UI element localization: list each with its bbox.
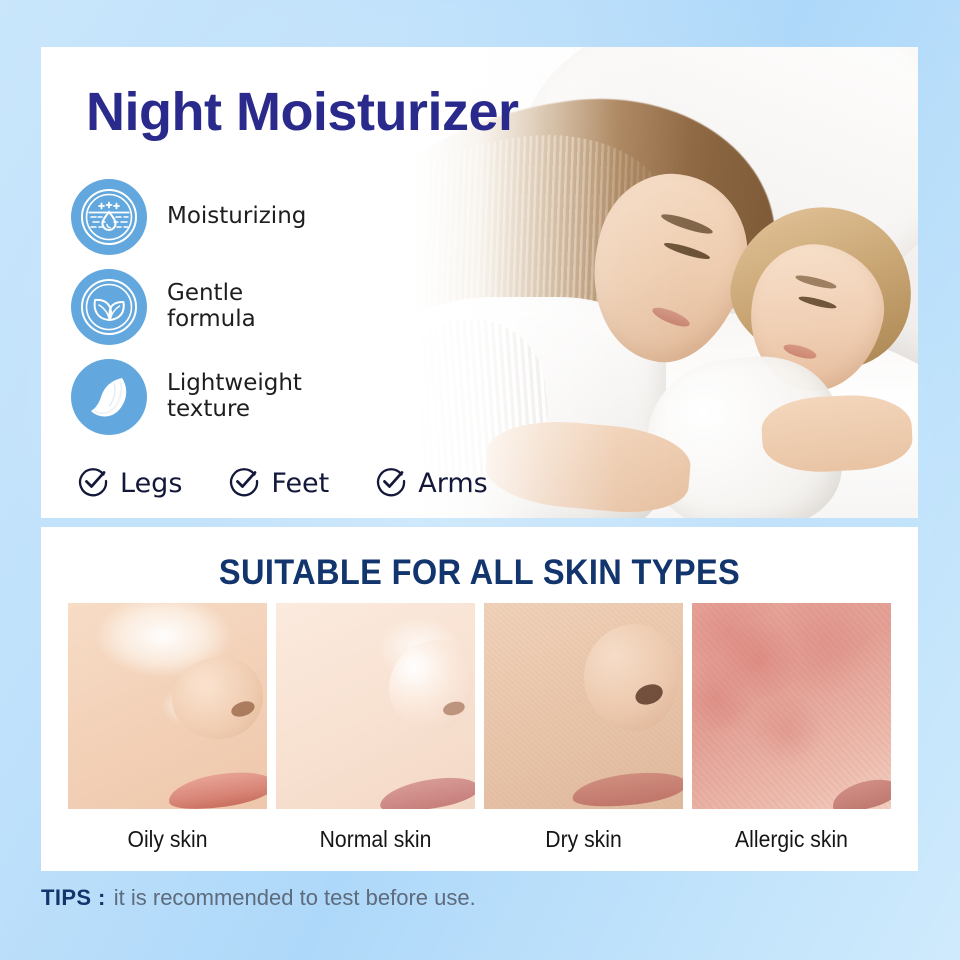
body-area-list: Legs Feet Arms [77, 465, 534, 502]
lips-shape [166, 766, 267, 809]
nose-shape [584, 624, 680, 731]
skin-hydration-icon [71, 179, 147, 255]
feature-item-moisturizing: Moisturizing [71, 172, 371, 262]
feature-list: Moisturizing Gentleformula [71, 172, 371, 442]
check-circle-icon [228, 465, 260, 502]
skin-type-caption-normal: Normal skin [284, 826, 467, 853]
check-item-arms: Arms [375, 465, 487, 502]
skin-type-caption-dry: Dry skin [492, 826, 675, 853]
oily-skin-photo [68, 603, 267, 809]
skin-type-caption-oily: Oily skin [76, 826, 259, 853]
feature-label-moisturizing: Moisturizing [167, 204, 306, 230]
feature-label-lightweight-texture: Lightweighttexture [167, 371, 302, 423]
feature-item-gentle-formula: Gentleformula [71, 262, 371, 352]
dry-skin-photo [484, 603, 683, 809]
skin-type-caption-allergic: Allergic skin [700, 826, 883, 853]
check-item-legs: Legs [77, 465, 182, 502]
lips-shape [829, 773, 891, 809]
skin-type-item-normal: Normal skin [276, 603, 475, 853]
skin-types-card: SUITABLE FOR ALL SKIN TYPES Oily skin No… [41, 527, 918, 871]
nose-shape [389, 640, 473, 731]
check-circle-icon [77, 465, 109, 502]
page-title: Night Moisturizer [86, 81, 519, 143]
check-circle-icon [375, 465, 407, 502]
lips-shape [570, 767, 683, 809]
skin-types-heading: SUITABLE FOR ALL SKIN TYPES [72, 553, 888, 593]
allergic-skin-photo [692, 603, 891, 809]
cream-swatch-icon [71, 359, 147, 435]
hero-card: Night Moisturizer [41, 47, 918, 518]
product-poster: Night Moisturizer [0, 0, 960, 960]
tips-note: TIPS : it is recommended to test before … [41, 885, 476, 911]
leaf-icon [71, 269, 147, 345]
skin-types-grid: Oily skin Normal skin Dry skin [68, 603, 891, 853]
skin-type-item-dry: Dry skin [484, 603, 683, 853]
tips-label: TIPS : [41, 885, 106, 911]
normal-skin-photo [276, 603, 475, 809]
nose-shape [172, 657, 264, 739]
check-label-legs: Legs [120, 468, 182, 499]
feature-label-gentle-formula: Gentleformula [167, 281, 256, 333]
tips-text: it is recommended to test before use. [114, 885, 476, 911]
skin-type-item-allergic: Allergic skin [692, 603, 891, 853]
check-label-arms: Arms [418, 468, 487, 499]
check-label-feet: Feet [271, 468, 329, 499]
check-item-feet: Feet [228, 465, 329, 502]
skin-type-item-oily: Oily skin [68, 603, 267, 853]
feature-item-lightweight-texture: Lightweighttexture [71, 352, 371, 442]
lips-shape [378, 772, 475, 809]
